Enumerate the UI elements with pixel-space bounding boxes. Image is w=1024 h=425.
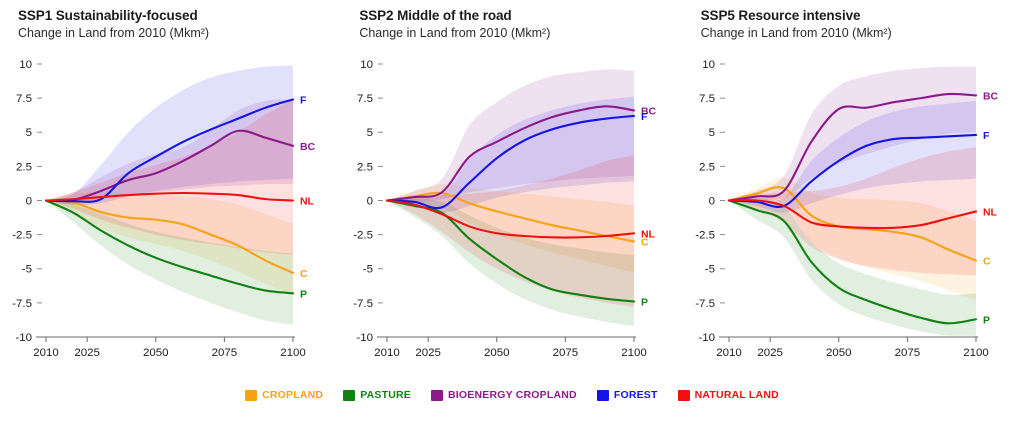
legend-swatch-icon [678,390,690,401]
chart-legend: CROPLANDPASTUREBIOENERGY CROPLANDFORESTN… [0,384,1024,406]
end-label-p: P [983,315,990,326]
y-tick-label: -10 [698,332,715,344]
chart-panel-2: SSP2 Middle of the roadChange in Land fr… [341,0,682,378]
legend-item-bc[interactable]: BIOENERGY CROPLAND [431,389,577,401]
y-tick-label: 7.5 [357,93,373,105]
end-label-nl: NL [300,196,315,207]
y-tick-label: 10 [361,59,374,71]
y-tick-label: 5 [708,127,714,139]
x-tick-label: 2025 [416,347,442,359]
y-tick-label: -7.5 [695,298,715,310]
y-tick-label: -5 [704,264,714,276]
end-label-bc: BC [300,142,316,153]
y-tick-label: -2.5 [12,230,32,242]
x-tick-label: 2100 [963,347,989,359]
x-tick-label: 2050 [826,347,852,359]
legend-swatch-icon [431,390,443,401]
y-tick-label: 0 [26,195,32,207]
y-tick-label: 10 [702,59,715,71]
end-label-c: C [641,237,649,248]
end-label-f: F [300,95,307,106]
end-label-f: F [641,112,648,123]
end-label-nl: NL [983,207,998,218]
x-tick-label: 2010 [716,347,742,359]
y-tick-label: -5 [22,264,32,276]
x-tick-label: 2100 [280,347,306,359]
y-tick-label: 2.5 [699,161,715,173]
y-tick-label: -10 [15,332,32,344]
legend-item-nl[interactable]: NATURAL LAND [678,389,779,401]
end-label-p: P [641,298,648,309]
y-tick-label: -7.5 [12,298,32,310]
x-tick-label: 2025 [74,347,100,359]
x-tick-label: 2100 [622,347,648,359]
plot-area: 107.552.50-2.5-5-7.5-1020102025205020752… [0,0,341,378]
legend-item-f[interactable]: FOREST [597,389,658,401]
end-label-f: F [983,131,990,142]
legend-item-label: BIOENERGY CROPLAND [448,389,577,401]
plot-area: 107.552.50-2.5-5-7.5-1020102025205020752… [341,0,682,378]
y-tick-label: 0 [367,195,373,207]
y-tick-label: 2.5 [357,161,373,173]
y-tick-label: -10 [357,332,374,344]
x-tick-label: 2050 [484,347,510,359]
y-tick-label: 2.5 [16,161,32,173]
y-tick-label: -2.5 [695,230,715,242]
legend-item-label: CROPLAND [262,389,323,401]
legend-swatch-icon [343,390,355,401]
legend-swatch-icon [245,390,257,401]
end-label-bc: BC [983,91,999,102]
y-tick-label: 10 [19,59,32,71]
x-tick-label: 2075 [212,347,238,359]
end-label-c: C [300,269,308,280]
chart-panel-1: SSP1 Sustainability-focusedChange in Lan… [0,0,341,378]
x-tick-label: 2010 [375,347,401,359]
end-label-c: C [983,257,991,268]
plot-area: 107.552.50-2.5-5-7.5-1020102025205020752… [683,0,1024,378]
legend-item-label: NATURAL LAND [695,389,779,401]
x-tick-label: 2075 [553,347,579,359]
x-tick-label: 2025 [757,347,783,359]
y-tick-label: -2.5 [354,230,374,242]
y-tick-label: -7.5 [354,298,374,310]
panel-container: SSP1 Sustainability-focusedChange in Lan… [0,0,1024,378]
x-tick-label: 2010 [33,347,59,359]
y-tick-label: 7.5 [699,93,715,105]
y-tick-label: 0 [708,195,714,207]
y-tick-label: 5 [367,127,373,139]
y-tick-label: -5 [363,264,373,276]
x-tick-label: 2050 [143,347,169,359]
y-tick-label: 7.5 [16,93,32,105]
legend-item-p[interactable]: PASTURE [343,389,411,401]
legend-item-label: PASTURE [360,389,411,401]
legend-swatch-icon [597,390,609,401]
legend-item-label: FOREST [614,389,658,401]
chart-panel-3: SSP5 Resource intensiveChange in Land fr… [683,0,1024,378]
end-label-p: P [300,289,307,300]
y-tick-label: 5 [26,127,32,139]
legend-item-c[interactable]: CROPLAND [245,389,323,401]
figure-root: SSP1 Sustainability-focusedChange in Lan… [0,0,1024,425]
x-tick-label: 2075 [894,347,920,359]
